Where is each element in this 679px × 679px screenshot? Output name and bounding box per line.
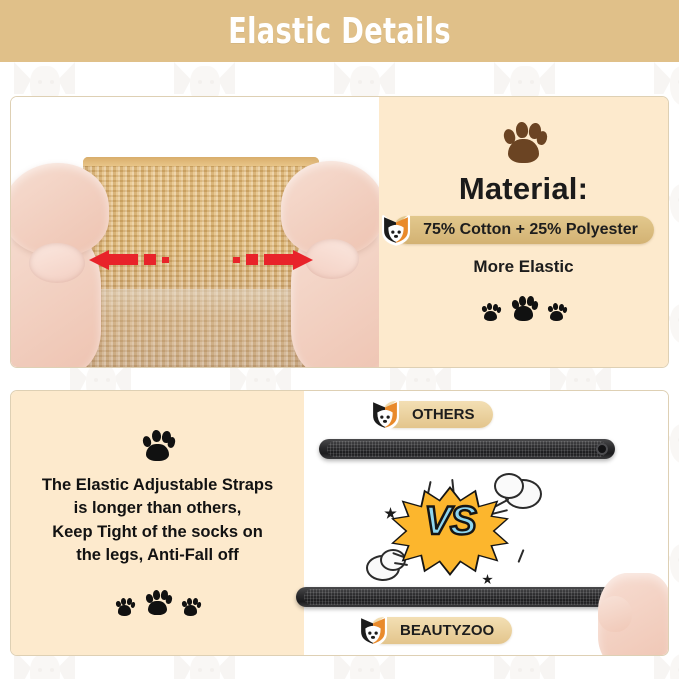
material-composition-text: 75% Cotton + 25% Polyester <box>423 221 638 239</box>
paw-print-small-icon <box>181 597 201 616</box>
page-title: Elastic Details <box>228 11 451 52</box>
strap-comparison-block: OTHERS VS <box>304 391 668 655</box>
dog-head-icon <box>368 398 402 432</box>
material-info-block: Material: 75% Cotton + 25% Polyester Mor… <box>379 97 668 367</box>
strap-comparison-panel: The Elastic Adjustable Straps is longer … <box>10 390 669 656</box>
arrow-dash <box>144 254 156 265</box>
arrow-dash <box>246 254 258 265</box>
paw-print-row <box>481 295 567 322</box>
hands-stretching-sock-photo <box>11 97 379 367</box>
arrow-left-icon <box>89 250 109 270</box>
material-heading: Material: <box>459 171 588 207</box>
beautyzoo-strap <box>296 587 628 607</box>
arrow-dash <box>108 254 138 265</box>
strap-description-block: The Elastic Adjustable Straps is longer … <box>11 391 304 655</box>
hand-thumb <box>598 596 632 632</box>
paw-print-icon <box>501 121 547 165</box>
arrow-dash <box>162 257 169 263</box>
strap-weave-texture <box>304 589 620 605</box>
elastic-material-panel: Material: 75% Cotton + 25% Polyester Mor… <box>10 96 669 368</box>
description-line: is longer than others, <box>42 497 273 520</box>
speed-line <box>517 549 524 563</box>
dog-head-icon <box>356 614 390 648</box>
sock-top-edge <box>83 157 319 166</box>
arrow-dash <box>233 257 240 263</box>
arrow-dash <box>264 254 294 265</box>
left-thumbnail <box>29 243 85 283</box>
dog-head-icon <box>379 213 413 247</box>
product-detail-image: Elastic Details <box>0 0 679 679</box>
paw-print-large-icon <box>510 295 538 322</box>
paw-print-small-icon <box>481 303 501 322</box>
strap-weave-texture <box>327 441 607 457</box>
paw-print-icon <box>141 430 175 463</box>
description-line: The Elastic Adjustable Straps <box>42 474 273 497</box>
description-line: the legs, Anti-Fall off <box>42 544 273 567</box>
right-thumb <box>281 161 379 255</box>
strap-eyelet <box>596 443 608 455</box>
left-thumb <box>11 163 109 255</box>
paw-print-small-icon <box>115 597 135 616</box>
paw-print-row <box>115 589 201 616</box>
star-icon <box>482 574 493 585</box>
stretch-arrows <box>89 249 313 271</box>
others-label-text: OTHERS <box>412 406 475 423</box>
material-composition-pill: 75% Cotton + 25% Polyester <box>393 216 654 244</box>
cloud-puff-icon <box>494 473 524 499</box>
beautyzoo-label-pill: BEAUTYZOO <box>370 617 512 644</box>
vs-badge: VS <box>366 479 546 583</box>
strap-description-text: The Elastic Adjustable Straps is longer … <box>42 474 273 568</box>
arrow-right-icon <box>293 250 313 270</box>
others-strap <box>319 439 615 459</box>
right-thumbnail <box>305 239 359 279</box>
more-elastic-text: More Elastic <box>473 257 573 277</box>
paw-print-small-icon <box>547 303 567 322</box>
vs-text: VS <box>394 501 506 541</box>
paw-print-large-icon <box>144 589 172 616</box>
others-label-pill: OTHERS <box>382 401 493 428</box>
beautyzoo-label-text: BEAUTYZOO <box>400 622 494 639</box>
description-line: Keep Tight of the socks on <box>42 521 273 544</box>
header-band: Elastic Details <box>0 0 679 62</box>
sock-lower-band <box>83 289 319 367</box>
